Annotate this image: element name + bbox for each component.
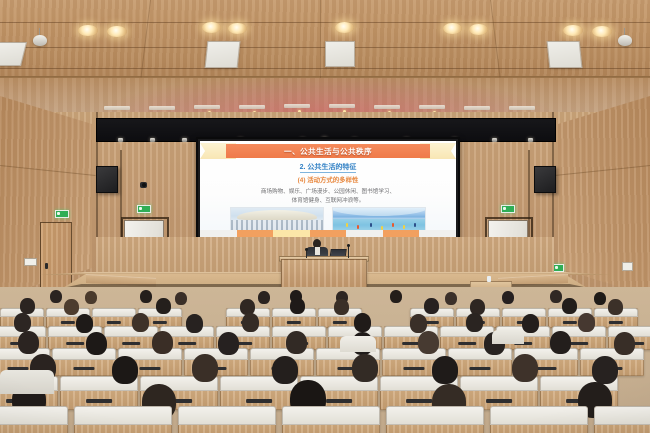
attendee-head — [112, 356, 138, 384]
attendee-head — [242, 313, 259, 332]
attendee-head — [186, 314, 203, 333]
attendee-head — [334, 299, 349, 315]
acoustic-panel — [325, 41, 355, 67]
attendee-head — [20, 298, 35, 314]
stage-track-light — [182, 138, 187, 142]
attendee-head — [418, 331, 439, 354]
right-wall — [558, 96, 650, 296]
pendant-light — [618, 35, 632, 46]
stage-track-light — [492, 138, 497, 142]
attendee-head — [614, 332, 635, 355]
slide-subheading-text: 2. 公共生活的特征 — [300, 164, 357, 173]
presenter-shirt — [315, 247, 320, 255]
slide-body: 商场购物、娱乐、广场漫步、公园休闲、图书馆学习、 体育馆健身、互联网冲浪等。 — [210, 188, 446, 206]
exit-sign-far-right[interactable] — [553, 264, 564, 272]
attendee-head — [352, 354, 378, 382]
microphone-head-2 — [347, 244, 350, 247]
attendee-head — [156, 298, 171, 314]
attendee-shoulders — [492, 330, 524, 344]
attendee-head — [562, 298, 577, 314]
slide-body-line-1: 商场购物、娱乐、广场漫步、公园休闲、图书馆学习、 — [210, 188, 446, 197]
ceiling-joint — [320, 0, 321, 78]
slide-body-line-2: 体育馆健身、互联网冲浪等。 — [210, 197, 446, 206]
attendee-head — [522, 314, 539, 333]
auditorium-seat[interactable] — [178, 406, 276, 433]
attendee-head — [218, 332, 239, 355]
acoustic-panel — [547, 41, 583, 68]
recessed-downlight — [563, 25, 583, 36]
recessed-downlight — [78, 25, 98, 36]
wall-speaker-right — [534, 166, 556, 193]
exit-sign-right[interactable] — [501, 205, 515, 213]
gooseneck-microphone-2 — [348, 246, 349, 258]
slide-footer-bar — [200, 230, 456, 237]
attendee-head — [64, 299, 79, 315]
auditorium-seat[interactable] — [594, 406, 650, 433]
exit-sign-left[interactable] — [137, 205, 151, 213]
recessed-downlight — [228, 23, 247, 34]
attendee-head — [18, 331, 39, 354]
attendee-head — [290, 298, 305, 314]
ceiling-seam — [0, 22, 650, 23]
attendee-head — [192, 354, 218, 382]
light-switch-plate-left[interactable] — [24, 258, 37, 266]
attendee-head — [424, 298, 439, 314]
projection-screen[interactable]: 一、公共生活与公共秩序 2. 公共生活的特征 (4) 活动方式的多样性 商场购物… — [196, 137, 460, 241]
auditorium-seat[interactable] — [490, 406, 588, 433]
ceiling-camera — [140, 182, 147, 188]
slide-subheading: 2. 公共生活的特征 — [200, 162, 456, 172]
pendant-light — [33, 35, 47, 46]
recessed-downlight — [443, 23, 462, 34]
auditorium-seat[interactable] — [282, 406, 380, 433]
auditorium-seat[interactable] — [386, 406, 484, 433]
attendee-head — [14, 313, 31, 332]
acoustic-panel — [205, 41, 241, 68]
recessed-downlight — [469, 24, 488, 35]
recessed-downlight — [592, 26, 612, 37]
attendee-head — [432, 356, 458, 384]
lecture-hall-scene: 一、公共生活与公共秩序 2. 公共生活的特征 (4) 活动方式的多样性 商场购物… — [0, 0, 650, 433]
attendee-head — [578, 313, 595, 332]
stage-track-light — [150, 138, 155, 142]
attendee-head — [286, 331, 307, 354]
wall-outlet-right[interactable] — [622, 262, 633, 271]
stage-track-light — [528, 138, 533, 142]
attendee-head — [410, 314, 427, 333]
wall-speaker-left — [96, 166, 118, 193]
recessed-downlight — [202, 22, 221, 33]
attendee-head — [86, 332, 107, 355]
attendee-head — [512, 354, 538, 382]
recessed-downlight — [107, 26, 127, 37]
water-bottle — [487, 276, 491, 282]
seat-row-6 — [0, 398, 650, 433]
attendee-shoulders — [340, 336, 376, 352]
auditorium-seat[interactable] — [0, 406, 68, 433]
attendee-head — [608, 299, 623, 315]
attendee-head — [550, 331, 571, 354]
attendee-shoulders — [0, 370, 54, 394]
attendee-head — [354, 313, 371, 332]
attendee-head — [272, 356, 298, 384]
attendee-head — [76, 314, 93, 333]
ceiling-seam — [0, 68, 650, 69]
gooseneck-microphone — [306, 250, 307, 258]
attendee-head — [592, 356, 618, 384]
slide-section-label: (4) 活动方式的多样性 — [200, 175, 456, 184]
attendee-head — [152, 331, 173, 354]
attendee-head — [132, 313, 149, 332]
slide-title: 一、公共生活与公共秩序 — [226, 144, 430, 158]
slide-content: 一、公共生活与公共秩序 2. 公共生活的特征 (4) 活动方式的多样性 商场购物… — [200, 141, 456, 237]
microphone-head — [305, 248, 308, 251]
stage-track-light — [118, 138, 123, 142]
attendee-head — [466, 313, 483, 332]
recessed-downlight — [335, 22, 354, 33]
auditorium-seat[interactable] — [74, 406, 172, 433]
exit-sign-far-left[interactable] — [55, 210, 69, 218]
